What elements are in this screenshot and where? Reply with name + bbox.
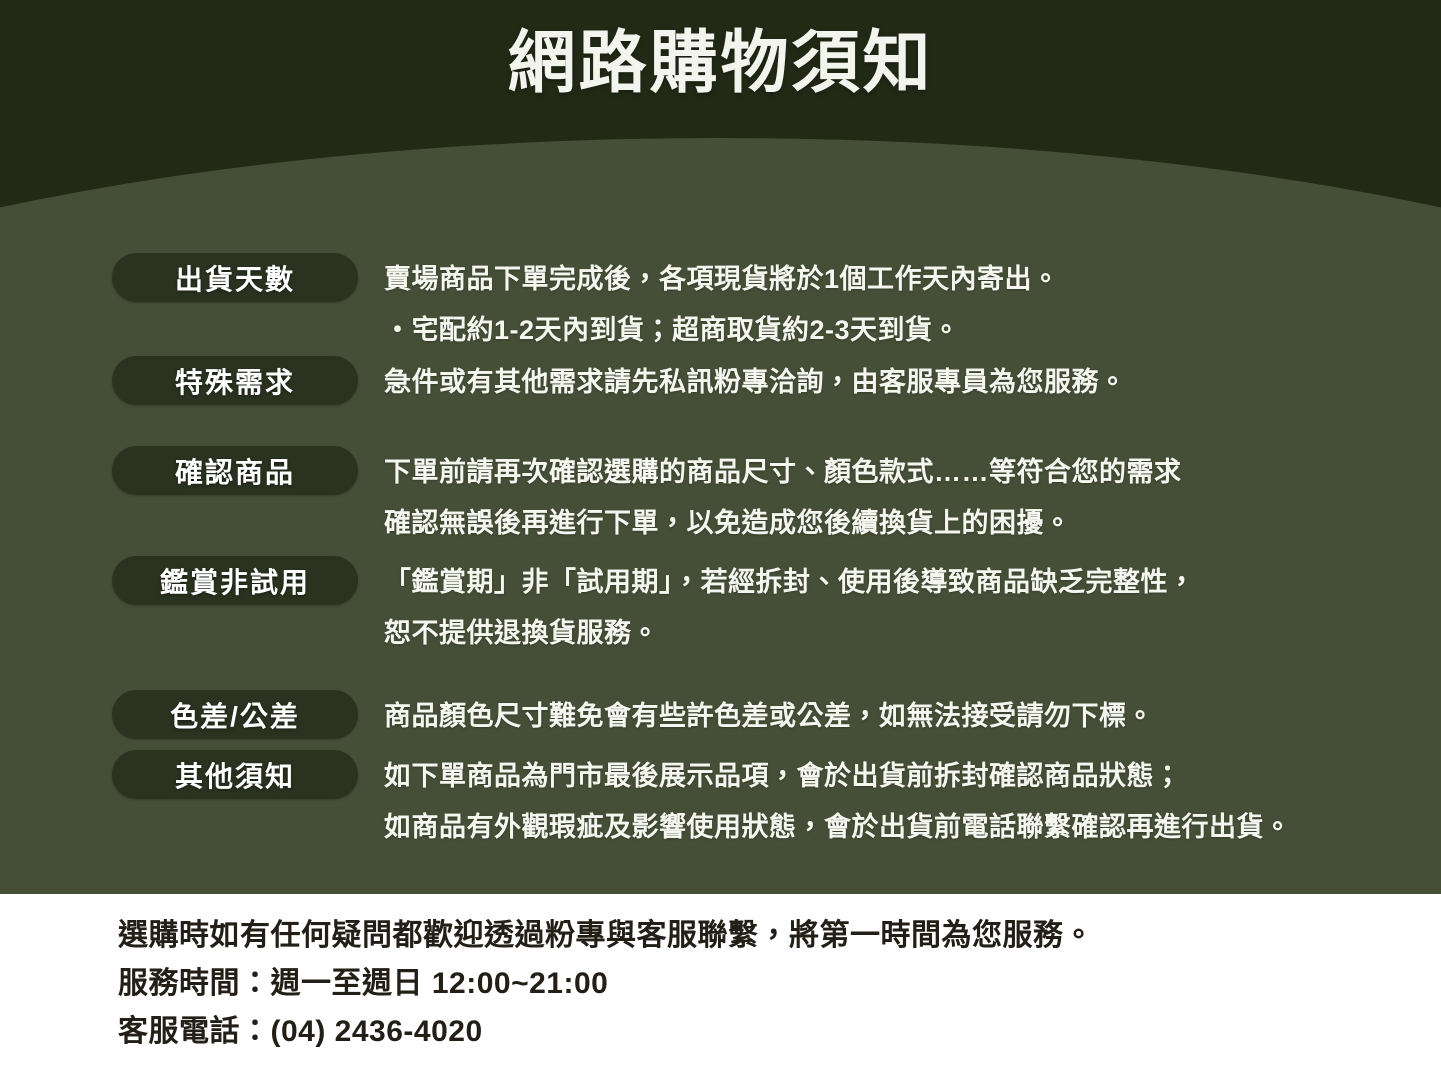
section-label-special-requests: 特殊需求 (112, 356, 358, 405)
section-line: 如商品有外觀瑕疵及影響使用狀態，會於出貨前電話聯繫確認再進行出貨。 (384, 802, 1292, 853)
section-line: ・宅配約1-2天內到貨；超商取貨約2-3天到貨。 (384, 305, 1060, 356)
section-body-confirm-product: 下單前請再次確認選購的商品尺寸、顏色款式……等符合您的需求 確認無誤後再進行下單… (384, 446, 1182, 549)
section-body-special-requests: 急件或有其他需求請先私訊粉專洽詢，由客服專員為您服務。 (384, 356, 1127, 408)
section-body-color-size-tolerance: 商品顏色尺寸難免會有些許色差或公差，如無法接受請勿下標。 (384, 690, 1154, 742)
section-body-shipping-days: 賣場商品下單完成後，各項現貨將於1個工作天內寄出。 ・宅配約1-2天內到貨；超商… (384, 253, 1060, 356)
section-line: 如下單商品為門市最後展示品項，會於出貨前拆封確認商品狀態； (384, 751, 1292, 802)
section-line: 確認無誤後再進行下單，以免造成您後續換貨上的困擾。 (384, 498, 1182, 549)
notice-row-confirm-product: 確認商品 下單前請再次確認選購的商品尺寸、顏色款式……等符合您的需求 確認無誤後… (112, 446, 1412, 549)
notice-row-other-notes: 其他須知 如下單商品為門市最後展示品項，會於出貨前拆封確認商品狀態； 如商品有外… (112, 750, 1412, 853)
notice-row-special-requests: 特殊需求 急件或有其他需求請先私訊粉專洽詢，由客服專員為您服務。 (112, 356, 1412, 408)
section-body-other-notes: 如下單商品為門市最後展示品項，會於出貨前拆封確認商品狀態； 如商品有外觀瑕疵及影… (384, 750, 1292, 853)
notice-sections: 出貨天數 賣場商品下單完成後，各項現貨將於1個工作天內寄出。 ・宅配約1-2天內… (0, 0, 1441, 894)
notice-row-inspection-not-trial: 鑑賞非試用 「鑑賞期」非「試用期」，若經拆封、使用後導致商品缺乏完整性， 恕不提… (112, 556, 1412, 659)
section-label-inspection-not-trial: 鑑賞非試用 (112, 556, 358, 605)
section-label-color-size-tolerance: 色差/公差 (112, 690, 358, 739)
section-line: 賣場商品下單完成後，各項現貨將於1個工作天內寄出。 (384, 254, 1060, 305)
section-line: 恕不提供退換貨服務。 (384, 608, 1196, 659)
section-line: 「鑑賞期」非「試用期」，若經拆封、使用後導致商品缺乏完整性， (384, 557, 1196, 608)
notice-row-shipping-days: 出貨天數 賣場商品下單完成後，各項現貨將於1個工作天內寄出。 ・宅配約1-2天內… (112, 253, 1412, 356)
section-line: 商品顏色尺寸難免會有些許色差或公差，如無法接受請勿下標。 (384, 691, 1154, 742)
footer-contact-invitation: 選購時如有任何疑問都歡迎透過粉專與客服聯繫，將第一時間為您服務。 (118, 912, 1441, 960)
footer-service-hours: 服務時間：週一至週日 12:00~21:00 (118, 960, 1441, 1008)
notice-page: 網路購物須知 出貨天數 賣場商品下單完成後，各項現貨將於1個工作天內寄出。 ・宅… (0, 0, 1441, 1080)
contact-footer: 選購時如有任何疑問都歡迎透過粉專與客服聯繫，將第一時間為您服務。 服務時間：週一… (0, 894, 1441, 1080)
notice-row-color-size-tolerance: 色差/公差 商品顏色尺寸難免會有些許色差或公差，如無法接受請勿下標。 (112, 690, 1412, 742)
section-body-inspection-not-trial: 「鑑賞期」非「試用期」，若經拆封、使用後導致商品缺乏完整性， 恕不提供退換貨服務… (384, 556, 1196, 659)
section-label-other-notes: 其他須知 (112, 750, 358, 799)
section-line: 下單前請再次確認選購的商品尺寸、顏色款式……等符合您的需求 (384, 447, 1182, 498)
section-label-confirm-product: 確認商品 (112, 446, 358, 495)
section-label-shipping-days: 出貨天數 (112, 253, 358, 302)
section-line: 急件或有其他需求請先私訊粉專洽詢，由客服專員為您服務。 (384, 357, 1127, 408)
footer-service-phone: 客服電話：(04) 2436-4020 (118, 1008, 1441, 1056)
